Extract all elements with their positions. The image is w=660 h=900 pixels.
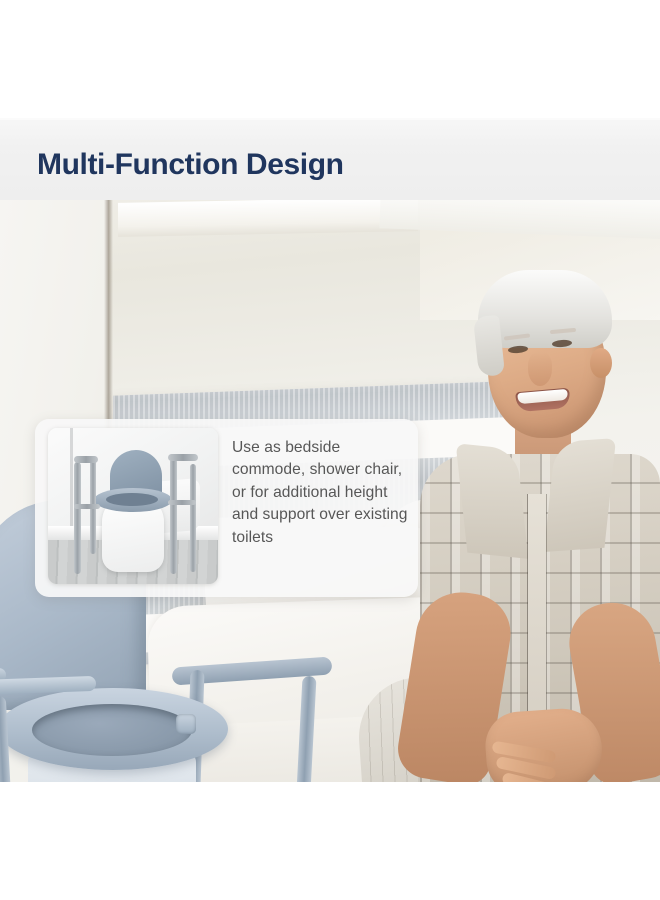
thumb-frame-arm-left — [74, 456, 98, 463]
commode-frame-clamp — [176, 714, 196, 734]
thumb-frame-arm-right — [168, 454, 198, 461]
thumb-wall-corner — [70, 428, 73, 540]
feature-callout-card: Use as bedside commode, shower chair, or… — [35, 419, 418, 597]
nose — [528, 352, 552, 386]
commode-leg-back-right — [289, 676, 316, 782]
thumb-frame-crossbar-right — [168, 500, 196, 505]
bottom-whitespace — [0, 782, 660, 900]
thumb-frame-leg-right — [170, 458, 177, 574]
wall-corner — [104, 200, 113, 450]
elderly-man — [400, 240, 660, 782]
ear — [590, 348, 612, 378]
callout-body-text: Use as bedside commode, shower chair, or… — [232, 437, 408, 549]
product-feature-image: Multi-Function Design — [0, 0, 660, 900]
commode-over-toilet-thumbnail — [48, 428, 218, 584]
teeth — [517, 389, 568, 404]
thumb-frame-leg-left — [74, 462, 81, 574]
thumb-frame-crossbar-left — [74, 504, 100, 509]
thumb-frame-leg-far-right — [190, 464, 196, 572]
thumb-commode-seat-opening — [106, 493, 158, 506]
commode-seat-opening — [32, 704, 192, 756]
lifestyle-photo: Use as bedside commode, shower chair, or… — [0, 200, 660, 782]
door-trim — [118, 200, 418, 237]
page-title: Multi-Function Design — [37, 148, 344, 182]
